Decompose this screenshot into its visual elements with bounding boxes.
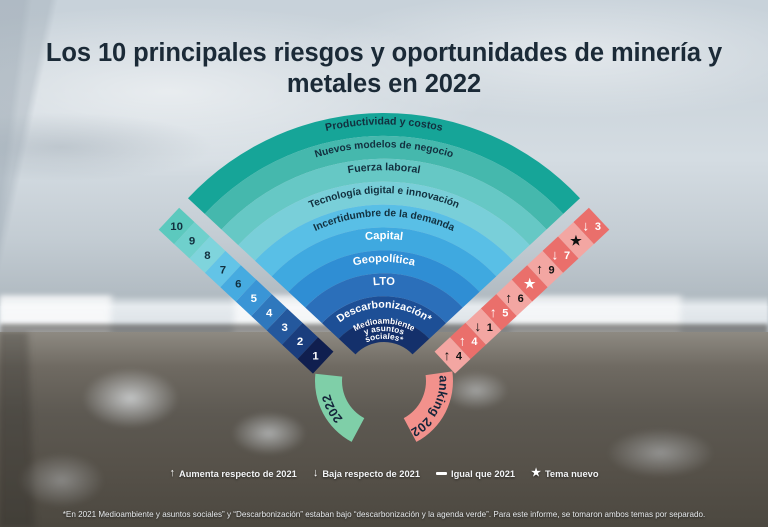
down-arrow-icon: ↓ (582, 217, 589, 233)
rank-change-amount: 4 (471, 336, 478, 348)
rank-change-amount: 7 (564, 250, 570, 262)
legend-label: Baja respecto de 2021 (322, 469, 420, 479)
legend-item: Igual que 2021 (436, 469, 515, 479)
rank-change-amount: 1 (487, 322, 493, 334)
legend: ↑Aumenta respecto de 2021↓Baja respecto … (0, 468, 768, 479)
legend-label: Tema nuevo (545, 469, 599, 479)
rank-change-amount: 3 (595, 221, 601, 233)
topic-arc-bands: Productividad y costosNuevos modelos de … (188, 113, 580, 354)
legend-item: ★Tema nuevo (531, 468, 598, 479)
axis-arc-2022 (315, 374, 364, 442)
up-arrow-icon: ↑ (490, 304, 497, 320)
star-icon: ★ (524, 276, 536, 291)
star-icon: ★ (531, 468, 541, 479)
rank-change-marker: ★ (524, 276, 536, 291)
rank-number-2022: 5 (251, 293, 258, 305)
star-icon: ★ (570, 233, 582, 248)
legend-item: ↑Aumenta respecto de 2021 (170, 468, 297, 479)
rank-change-amount: 4 (456, 351, 463, 363)
rank-number-2022: 1 (312, 351, 319, 363)
topic-arc-label: Capital (364, 230, 403, 243)
rank-number-2022: 8 (204, 250, 210, 262)
up-arrow-icon: ↑ (505, 289, 512, 305)
rank-change-amount: 5 (502, 307, 508, 319)
rank-number-2022: 3 (281, 322, 287, 334)
rank-number-2022: 10 (170, 221, 183, 233)
legend-label: Igual que 2021 (451, 469, 515, 479)
rank-number-2022: 6 (235, 279, 241, 291)
rank-change-amount: 9 (549, 264, 555, 276)
down-arrow-icon: ↓ (474, 318, 481, 334)
legend-item: ↓Baja respecto de 2021 (313, 468, 420, 479)
topic-arc-label: LTO (373, 276, 396, 289)
rank-change-amount: 6 (518, 293, 524, 305)
up-arrow-icon: ↑ (459, 333, 466, 349)
footnote: *En 2021 Medioambiente y asuntos sociale… (0, 510, 768, 519)
up-arrow-icon: ↑ (536, 261, 543, 277)
up-arrow-icon: ↑ (443, 347, 450, 363)
radial-ranking-chart: 10987654321 ↓3★↓7↑9★↑6↑5↓1↑4↑4 Productiv… (0, 0, 768, 527)
legend-label: Aumenta respecto de 2021 (179, 469, 297, 479)
down-arrow-icon: ↓ (552, 246, 559, 262)
rank-number-2022: 9 (189, 235, 195, 247)
up-arrow-icon: ↑ (170, 468, 176, 479)
rank-number-2022: 2 (297, 336, 303, 348)
rank-number-2022: 4 (266, 307, 273, 319)
dash-icon (436, 472, 447, 475)
rank-change-marker: ★ (570, 233, 582, 248)
down-arrow-icon: ↓ (313, 468, 319, 479)
rank-number-2022: 7 (220, 264, 226, 276)
